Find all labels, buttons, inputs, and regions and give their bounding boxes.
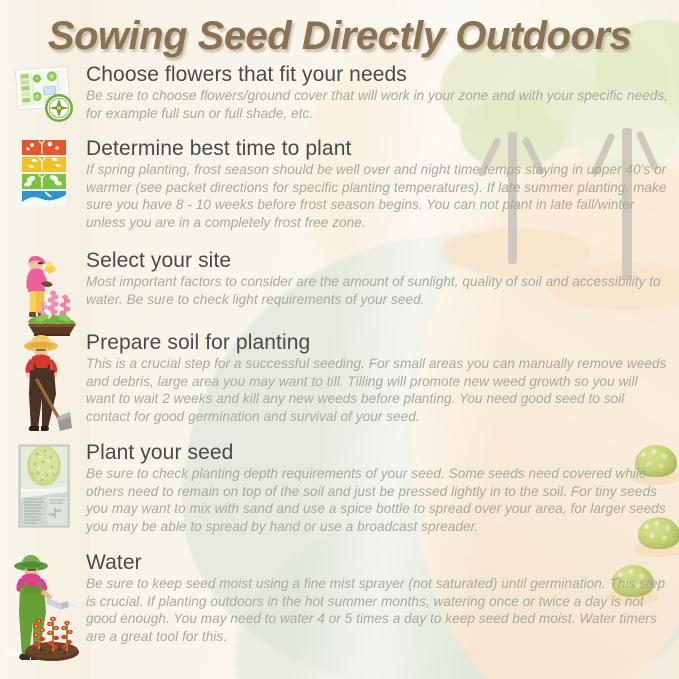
- step-text: If spring planting, frost season should …: [86, 161, 669, 232]
- step-water: Water Be sure to keep seed moist using a…: [8, 552, 669, 646]
- step-text: Most important factors to consider are t…: [86, 273, 669, 308]
- step-plant-seed: Plant your seed Be sure to check plantin…: [8, 442, 669, 536]
- step-choose-flowers: Choose flowers that fit your needs Be su…: [8, 64, 669, 122]
- gardener-with-flower-box-icon: [8, 250, 80, 336]
- step-heading: Determine best time to plant: [86, 138, 669, 160]
- step-text: Be sure to keep seed moist using a fine …: [86, 575, 669, 646]
- seed-packet-icon: [8, 442, 80, 530]
- page-title: Sowing Seed Directly Outdoors: [0, 14, 679, 59]
- gardener-with-shovel-icon: [8, 332, 80, 432]
- four-seasons-icon: [8, 138, 80, 208]
- gardener-watering-icon: [8, 552, 80, 662]
- step-prepare-soil: Prepare soil for planting This is a cruc…: [8, 332, 669, 426]
- step-heading: Water: [86, 552, 669, 574]
- step-heading: Select your site: [86, 250, 669, 272]
- step-text: This is a crucial step for a successful …: [86, 355, 669, 426]
- step-text: Be sure to choose flowers/ground cover t…: [86, 87, 669, 122]
- step-determine-time: Determine best time to plant If spring p…: [8, 138, 669, 232]
- step-text: Be sure to check planting depth requirem…: [86, 465, 669, 536]
- step-heading: Choose flowers that fit your needs: [86, 64, 669, 86]
- step-select-site: Select your site Most important factors …: [8, 250, 669, 308]
- step-heading: Plant your seed: [86, 442, 669, 464]
- garden-plan-compass-icon: [8, 64, 80, 128]
- infographic-poster: Sowing Seed Directly Outdoors: [0, 0, 679, 679]
- step-heading: Prepare soil for planting: [86, 332, 669, 354]
- steps-list: Choose flowers that fit your needs Be su…: [0, 0, 679, 679]
